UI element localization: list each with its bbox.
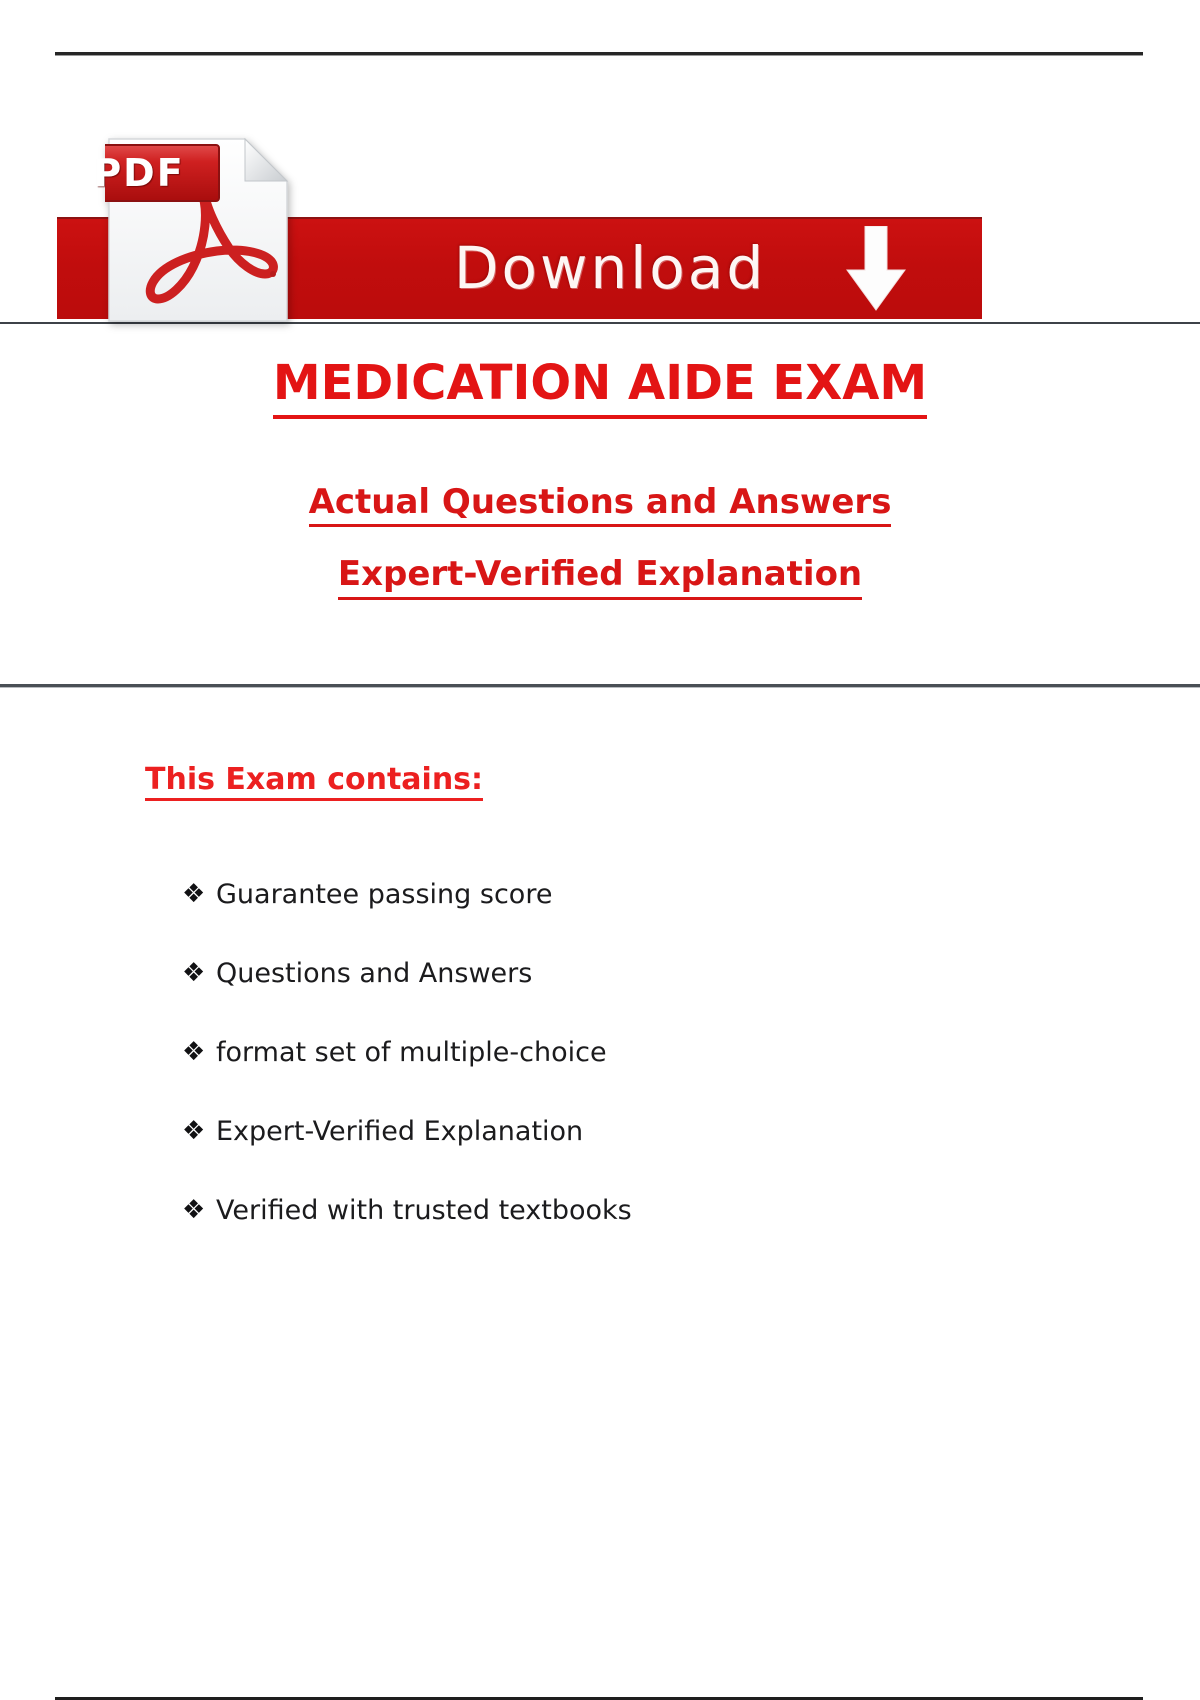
list-item-label: Verified with trusted textbooks (216, 1196, 942, 1226)
pdf-badge-label: PDF (58, 145, 220, 201)
list-item: ❖ Questions and Answers (182, 959, 942, 989)
list-item-label: Expert-Verified Explanation (216, 1117, 942, 1147)
download-button-label[interactable]: Download (400, 218, 820, 318)
list-item-label: Questions and Answers (216, 959, 942, 989)
list-item: ❖ Verified with trusted textbooks (182, 1196, 942, 1226)
download-arrow-icon[interactable] (845, 226, 907, 312)
diamond-bullet-icon: ❖ (182, 880, 216, 910)
list-item-label: format set of multiple-choice (216, 1038, 942, 1068)
exam-contains-heading: This Exam contains: (145, 762, 483, 801)
diamond-bullet-icon: ❖ (182, 1038, 216, 1068)
title-section-divider (0, 684, 1200, 687)
document-page: Download (0, 0, 1200, 1700)
page-title: MEDICATION AIDE EXAM (273, 355, 927, 419)
list-item-label: Guarantee passing score (216, 880, 942, 910)
header-divider (55, 52, 1143, 55)
title-block: MEDICATION AIDE EXAM Actual Questions an… (0, 355, 1200, 600)
diamond-bullet-icon: ❖ (182, 959, 216, 989)
subtitle-actual-questions: Actual Questions and Answers (309, 481, 892, 528)
exam-contains-list: ❖ Guarantee passing score ❖ Questions an… (182, 880, 942, 1274)
subtitle-expert-verified: Expert-Verified Explanation (338, 553, 862, 600)
diamond-bullet-icon: ❖ (182, 1196, 216, 1226)
list-item: ❖ format set of multiple-choice (182, 1038, 942, 1068)
list-item: ❖ Guarantee passing score (182, 880, 942, 910)
list-item: ❖ Expert-Verified Explanation (182, 1117, 942, 1147)
diamond-bullet-icon: ❖ (182, 1117, 216, 1147)
